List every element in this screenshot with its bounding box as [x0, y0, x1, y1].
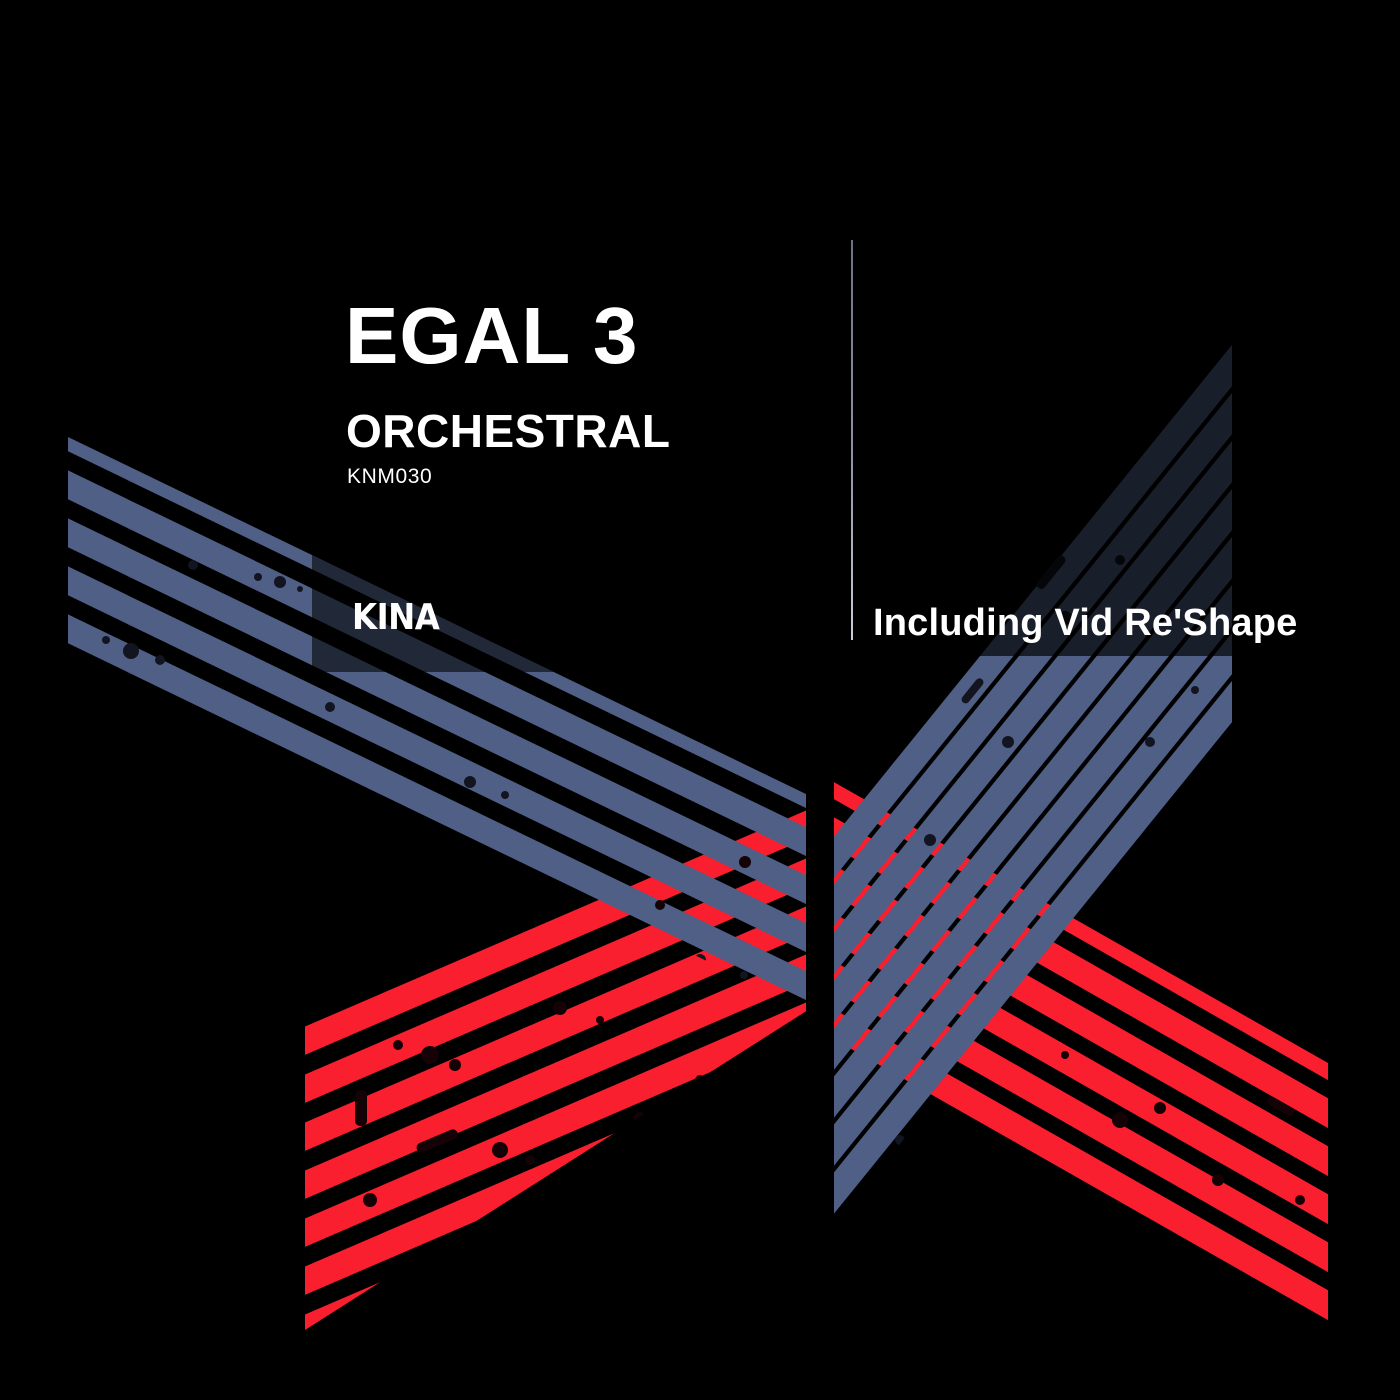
- artist-name: EGAL 3: [345, 296, 639, 376]
- center-gutter: [806, 700, 834, 1400]
- vertical-rule: [851, 240, 853, 640]
- striped-x-artwork: [0, 0, 1400, 1400]
- label-logo: KINA: [352, 600, 439, 636]
- catalog-number: KNM030: [347, 466, 432, 487]
- release-title: ORCHESTRAL: [346, 408, 670, 454]
- remix-credit: Including Vid Re'Shape: [873, 604, 1297, 642]
- album-cover: EGAL 3 ORCHESTRAL KNM030 KINA Including …: [0, 0, 1400, 1400]
